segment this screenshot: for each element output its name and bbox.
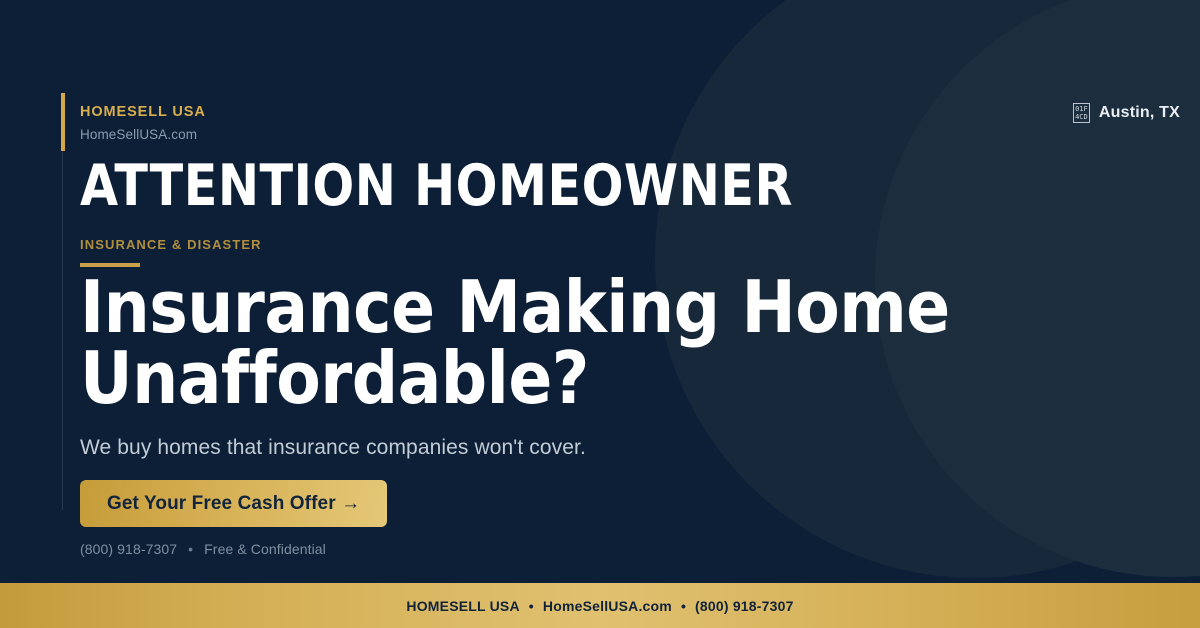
footer-phone[interactable]: (800) 918-7307 (695, 598, 794, 614)
location-pin-icon: 01F 4CD (1073, 103, 1090, 123)
get-free-cash-offer-button[interactable]: Get Your Free Cash Offer → (80, 480, 387, 527)
fineprint-separator: • (181, 541, 200, 557)
tofu-codepoint-top: 01F (1075, 105, 1088, 113)
tofu-codepoint-bottom: 4CD (1075, 113, 1088, 121)
brand-website: HomeSellUSA.com (80, 127, 206, 143)
eyebrow-underline (80, 263, 140, 267)
subheadline: We buy homes that insurance companies wo… (80, 436, 586, 460)
location-label: Austin, TX (1099, 104, 1180, 122)
footer-contact-line: HOMESELL USA • HomeSellUSA.com • (800) 9… (406, 598, 793, 614)
brand-block: HOMESELL USA HomeSellUSA.com (80, 104, 206, 144)
ad-creative: HOMESELL USA HomeSellUSA.com 01F 4CD Aus… (0, 0, 1200, 628)
footer-brand: HOMESELL USA (406, 598, 519, 614)
footer-bar: HOMESELL USA • HomeSellUSA.com • (800) 9… (0, 583, 1200, 628)
fineprint-note: Free & Confidential (204, 541, 326, 557)
footer-website[interactable]: HomeSellUSA.com (543, 598, 672, 614)
gold-accent-bar (61, 93, 65, 151)
fineprint-phone: (800) 918-7307 (80, 541, 177, 557)
category-eyebrow: INSURANCE & DISASTER (80, 237, 262, 252)
brand-name: HOMESELL USA (80, 104, 206, 121)
attention-banner: ATTENTION HOMEOWNER (80, 158, 793, 215)
location-badge: 01F 4CD Austin, TX (1073, 103, 1180, 123)
page-title: Insurance Making Home Unaffordable? (80, 272, 1040, 414)
footer-separator-one: • (520, 598, 543, 614)
ad-content: HOMESELL USA HomeSellUSA.com 01F 4CD Aus… (80, 0, 1120, 628)
fineprint: (800) 918-7307 • Free & Confidential (80, 541, 326, 557)
vertical-divider-line (62, 152, 63, 510)
footer-separator-two: • (672, 598, 695, 614)
